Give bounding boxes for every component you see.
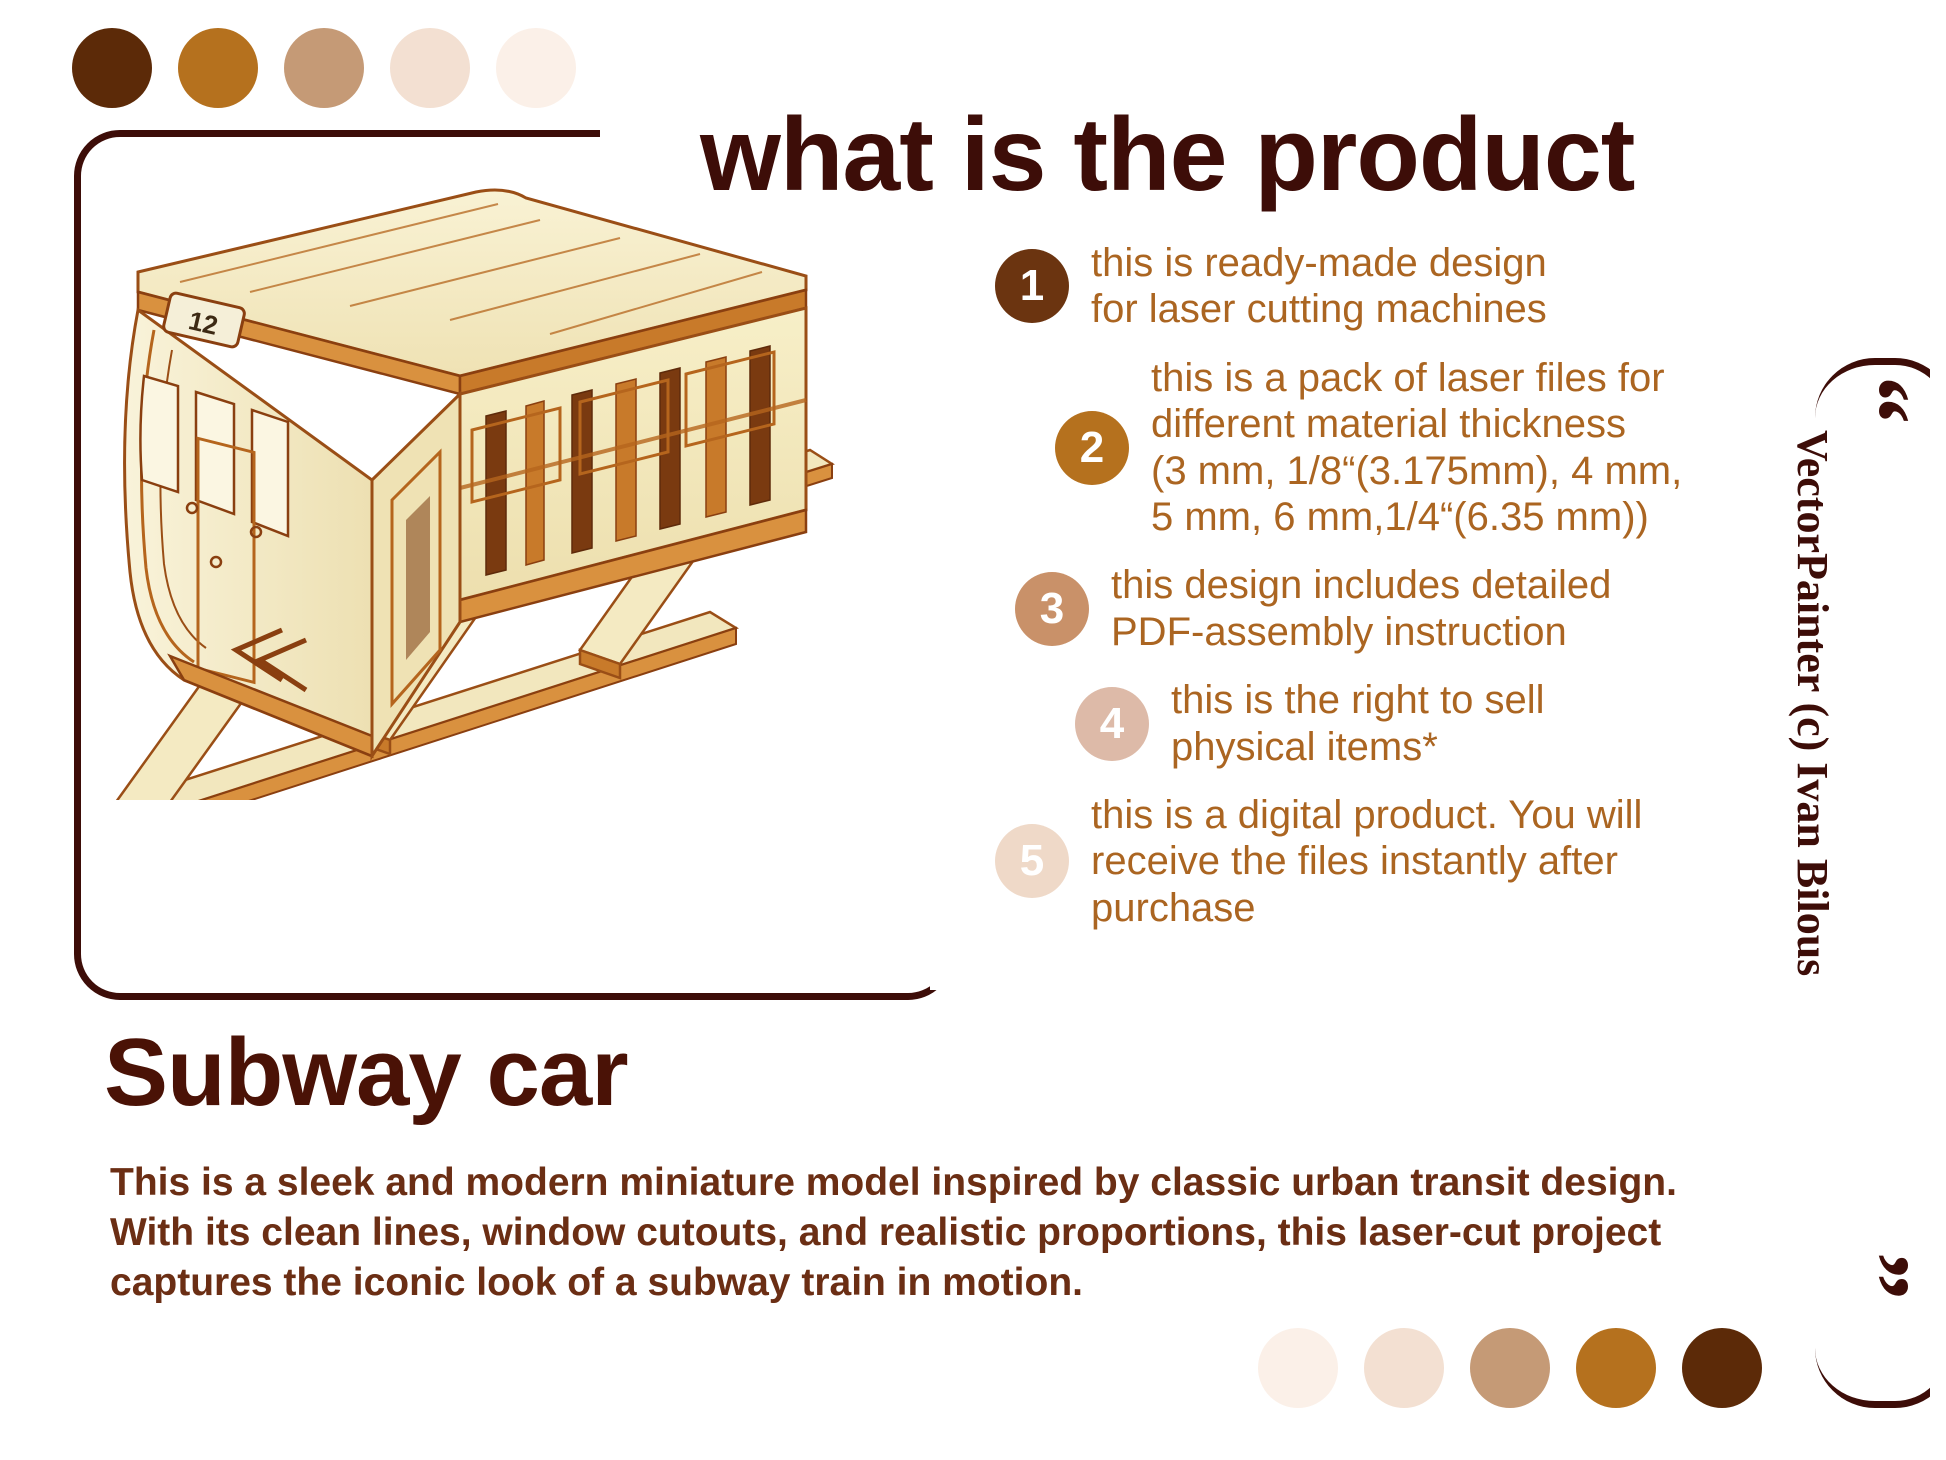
palette-swatch: [1258, 1328, 1338, 1408]
product-title: Subway car: [104, 1018, 628, 1128]
feature-item-2: 2 this is a pack of laser files for diff…: [1055, 355, 1715, 541]
palette-swatch: [178, 28, 258, 108]
feature-item-5: 5 this is a digital product. You will re…: [995, 792, 1715, 931]
quote-close-icon: ”: [1828, 1252, 1924, 1300]
feature-item-1: 1 this is ready-made design for laser cu…: [995, 240, 1715, 333]
feature-list: 1 this is ready-made design for laser cu…: [995, 240, 1715, 953]
feature-badge-5: 5: [995, 824, 1069, 898]
subway-car-illustration: 12: [20, 180, 980, 800]
quote-open-icon: “: [1828, 376, 1924, 424]
feature-item-4: 4 this is the right to sell physical ite…: [1075, 677, 1715, 770]
feature-text-1: this is ready-made design for laser cutt…: [1091, 240, 1547, 333]
feature-item-3: 3 this design includes detailed PDF-asse…: [1015, 562, 1715, 655]
watermark-bracket-gap: [1930, 350, 1946, 1420]
feature-text-4: this is the right to sell physical items…: [1171, 677, 1545, 770]
car-body: 12: [125, 190, 806, 756]
feature-badge-2: 2: [1055, 411, 1129, 485]
frame-gap-bottom: [940, 975, 1140, 1015]
feature-badge-4: 4: [1075, 687, 1149, 761]
feature-badge-3: 3: [1015, 572, 1089, 646]
product-description: This is a sleek and modern miniature mod…: [110, 1158, 1730, 1308]
palette-swatch: [1470, 1328, 1550, 1408]
feature-text-2: this is a pack of laser files for differ…: [1151, 355, 1682, 541]
palette-swatch: [390, 28, 470, 108]
palette-swatch: [1682, 1328, 1762, 1408]
color-palette-top: [72, 28, 576, 108]
page-title: what is the product: [700, 96, 1634, 215]
palette-swatch: [1576, 1328, 1656, 1408]
feature-text-5: this is a digital product. You will rece…: [1091, 792, 1642, 931]
watermark-text: VectorPainter (c) Ivan Bilous: [1787, 430, 1838, 990]
palette-swatch: [72, 28, 152, 108]
palette-swatch: [284, 28, 364, 108]
color-palette-bottom: [1258, 1328, 1762, 1408]
feature-text-3: this design includes detailed PDF-assemb…: [1111, 562, 1611, 655]
palette-swatch: [496, 28, 576, 108]
feature-badge-1: 1: [995, 249, 1069, 323]
palette-swatch: [1364, 1328, 1444, 1408]
